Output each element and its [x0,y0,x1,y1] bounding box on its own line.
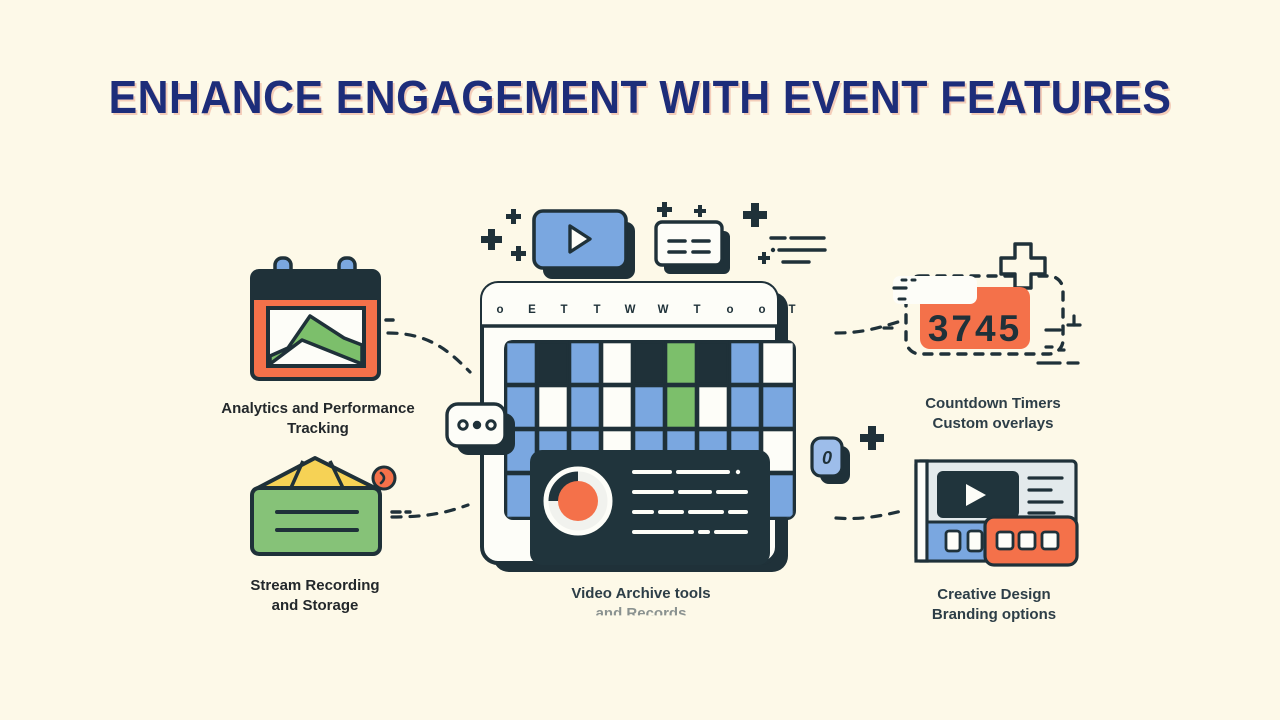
connector-creative [836,511,902,519]
note-lines-card [656,222,730,274]
connector-analytics [388,333,470,372]
caption-video-line2: and Records [525,604,757,624]
header-letter: o [758,304,765,316]
header-letter: o [726,304,733,316]
connector-stream [392,505,468,517]
countdown-value: 3745 [928,308,1022,349]
plus-icon [860,426,884,450]
header-letter: W [658,304,669,316]
caption-stream-line2: and Storage [272,597,359,614]
countdown-timer-icon: 3745 [884,244,1080,363]
plus-icon [511,246,526,261]
caption-analytics-line2: Tracking [287,420,349,437]
plus-icon [506,209,521,224]
slide-canvas: ENHANCE ENGAGEMENT WITH EVENT FEATURES [0,0,1280,720]
header-letter: T [693,304,700,316]
plus-icon [1001,244,1045,288]
header-letter: o [496,304,503,316]
storage-box-icon [252,458,410,554]
plus-icon [657,202,672,217]
calendar-chart-icon [252,258,393,379]
caption-analytics: Analytics and Performance Tracking [190,399,446,440]
caption-creative-line2: Branding options [932,606,1056,623]
caption-stream-recording: Stream Recording and Storage [215,576,415,617]
header-letter: T [560,304,567,316]
plus-icon [758,252,770,264]
header-letter: T [593,304,600,316]
header-letter: E [528,304,536,316]
caption-countdown-line2: Custom overlays [933,415,1054,432]
dash-lines [771,238,825,262]
zero-badge: 0 [812,438,850,484]
caption-countdown: Countdown Timers Custom overlays [888,394,1098,435]
zero-badge-value: 0 [822,448,832,468]
header-letter: W [625,304,636,316]
play-button-card [534,211,635,279]
video-player-card-icon [916,461,1077,565]
plus-icon [694,205,706,217]
plus-icon [743,203,767,227]
caption-creative-design: Creative Design Branding options [898,585,1090,626]
caption-creative-line1: Creative Design [937,586,1050,603]
caption-video-archive: Video Archive tools and Records [525,584,757,625]
caption-analytics-line1: Analytics and Performance [221,400,414,417]
dots-badge [447,404,515,455]
donut-chart [546,469,610,533]
plus-icon [481,229,502,250]
caption-video-line1: Video Archive tools [571,585,710,602]
caption-countdown-line1: Countdown Timers [925,395,1061,412]
header-letter: T [788,304,795,316]
caption-stream-line1: Stream Recording [250,577,379,594]
dashboard-dark-panel [530,450,770,565]
